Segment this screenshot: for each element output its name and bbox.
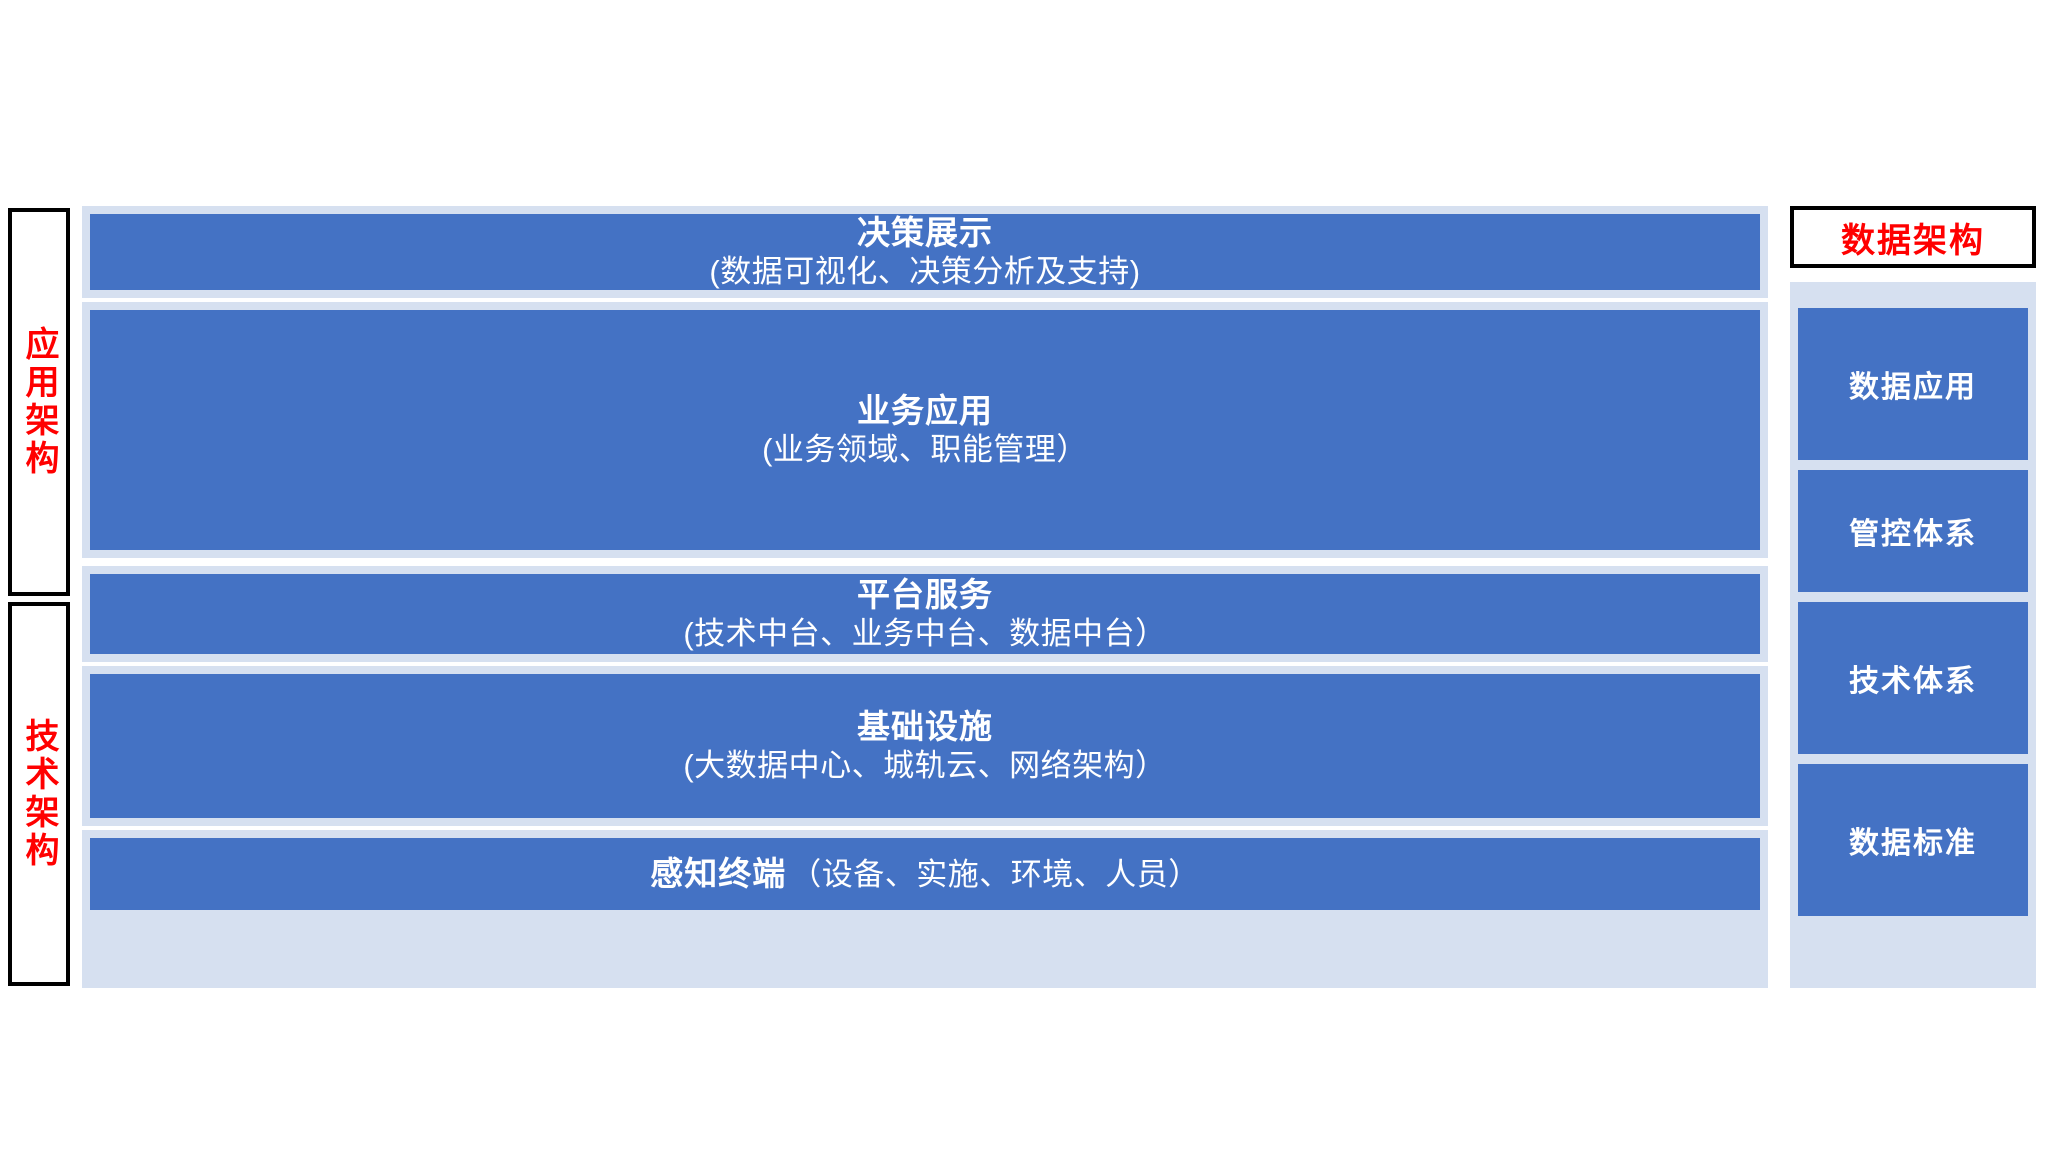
layer-band-business: 业务应用 (业务领域、职能管理） <box>82 302 1768 558</box>
data-architecture-item-technology-system[interactable]: 技术体系 <box>1798 602 2028 754</box>
layer-subtitle-business: (业务领域、职能管理） <box>762 431 1088 470</box>
layer-subtitle-platform: (技术中台、业务中台、数据中台） <box>683 615 1166 654</box>
data-architecture-item-data-standard[interactable]: 数据标准 <box>1798 764 2028 916</box>
architecture-layer-stack: 决策展示 (数据可视化、决策分析及支持) 业务应用 (业务领域、职能管理） 平台… <box>82 206 1768 988</box>
layer-terminal-inline-row: 感知终端 （设备、实施、环境、人员） <box>650 853 1200 895</box>
layer-box-decision[interactable]: 决策展示 (数据可视化、决策分析及支持) <box>90 214 1760 290</box>
data-architecture-item-label: 管控体系 <box>1849 509 1977 553</box>
layer-box-business[interactable]: 业务应用 (业务领域、职能管理） <box>90 310 1760 550</box>
layer-band-decision: 决策展示 (数据可视化、决策分析及支持) <box>82 206 1768 298</box>
layer-band-footer-strip <box>82 920 1768 988</box>
layer-title-decision: 决策展示 <box>857 212 993 253</box>
data-architecture-column: 数据架构 数据应用 管控体系 技术体系 数据标准 <box>1790 206 2036 988</box>
architecture-label-application: 应用架构 <box>8 208 70 596</box>
layer-subtitle-terminal: （设备、实施、环境、人员） <box>790 856 1200 895</box>
architecture-label-technology-text: 技术架构 <box>19 718 59 870</box>
architecture-label-technology: 技术架构 <box>8 602 70 986</box>
data-architecture-item-label: 数据应用 <box>1849 362 1977 406</box>
architecture-label-application-text: 应用架构 <box>19 326 59 478</box>
layer-subtitle-infrastructure: (大数据中心、城轨云、网络架构） <box>683 747 1166 786</box>
data-architecture-band: 数据应用 管控体系 技术体系 数据标准 <box>1790 282 2036 988</box>
layer-title-business: 业务应用 <box>857 390 993 431</box>
layer-box-infrastructure[interactable]: 基础设施 (大数据中心、城轨云、网络架构） <box>90 674 1760 818</box>
data-architecture-item-governance-system[interactable]: 管控体系 <box>1798 470 2028 592</box>
layer-box-terminal[interactable]: 感知终端 （设备、实施、环境、人员） <box>90 838 1760 910</box>
layer-box-platform[interactable]: 平台服务 (技术中台、业务中台、数据中台） <box>90 574 1760 654</box>
layer-title-terminal: 感知终端 <box>650 853 786 894</box>
layer-title-infrastructure: 基础设施 <box>857 706 993 747</box>
architecture-label-column: 应用架构 技术架构 <box>8 208 70 986</box>
layer-band-platform: 平台服务 (技术中台、业务中台、数据中台） <box>82 566 1768 662</box>
data-architecture-header: 数据架构 <box>1790 206 2036 268</box>
data-architecture-item-label: 技术体系 <box>1849 656 1977 700</box>
layer-band-terminal: 感知终端 （设备、实施、环境、人员） <box>82 830 1768 920</box>
data-architecture-item-data-application[interactable]: 数据应用 <box>1798 308 2028 460</box>
data-architecture-header-text: 数据架构 <box>1841 213 1985 262</box>
data-architecture-item-label: 数据标准 <box>1849 818 1977 862</box>
layer-title-platform: 平台服务 <box>857 574 993 615</box>
layer-band-infrastructure: 基础设施 (大数据中心、城轨云、网络架构） <box>82 666 1768 826</box>
layer-subtitle-decision: (数据可视化、决策分析及支持) <box>709 253 1140 292</box>
